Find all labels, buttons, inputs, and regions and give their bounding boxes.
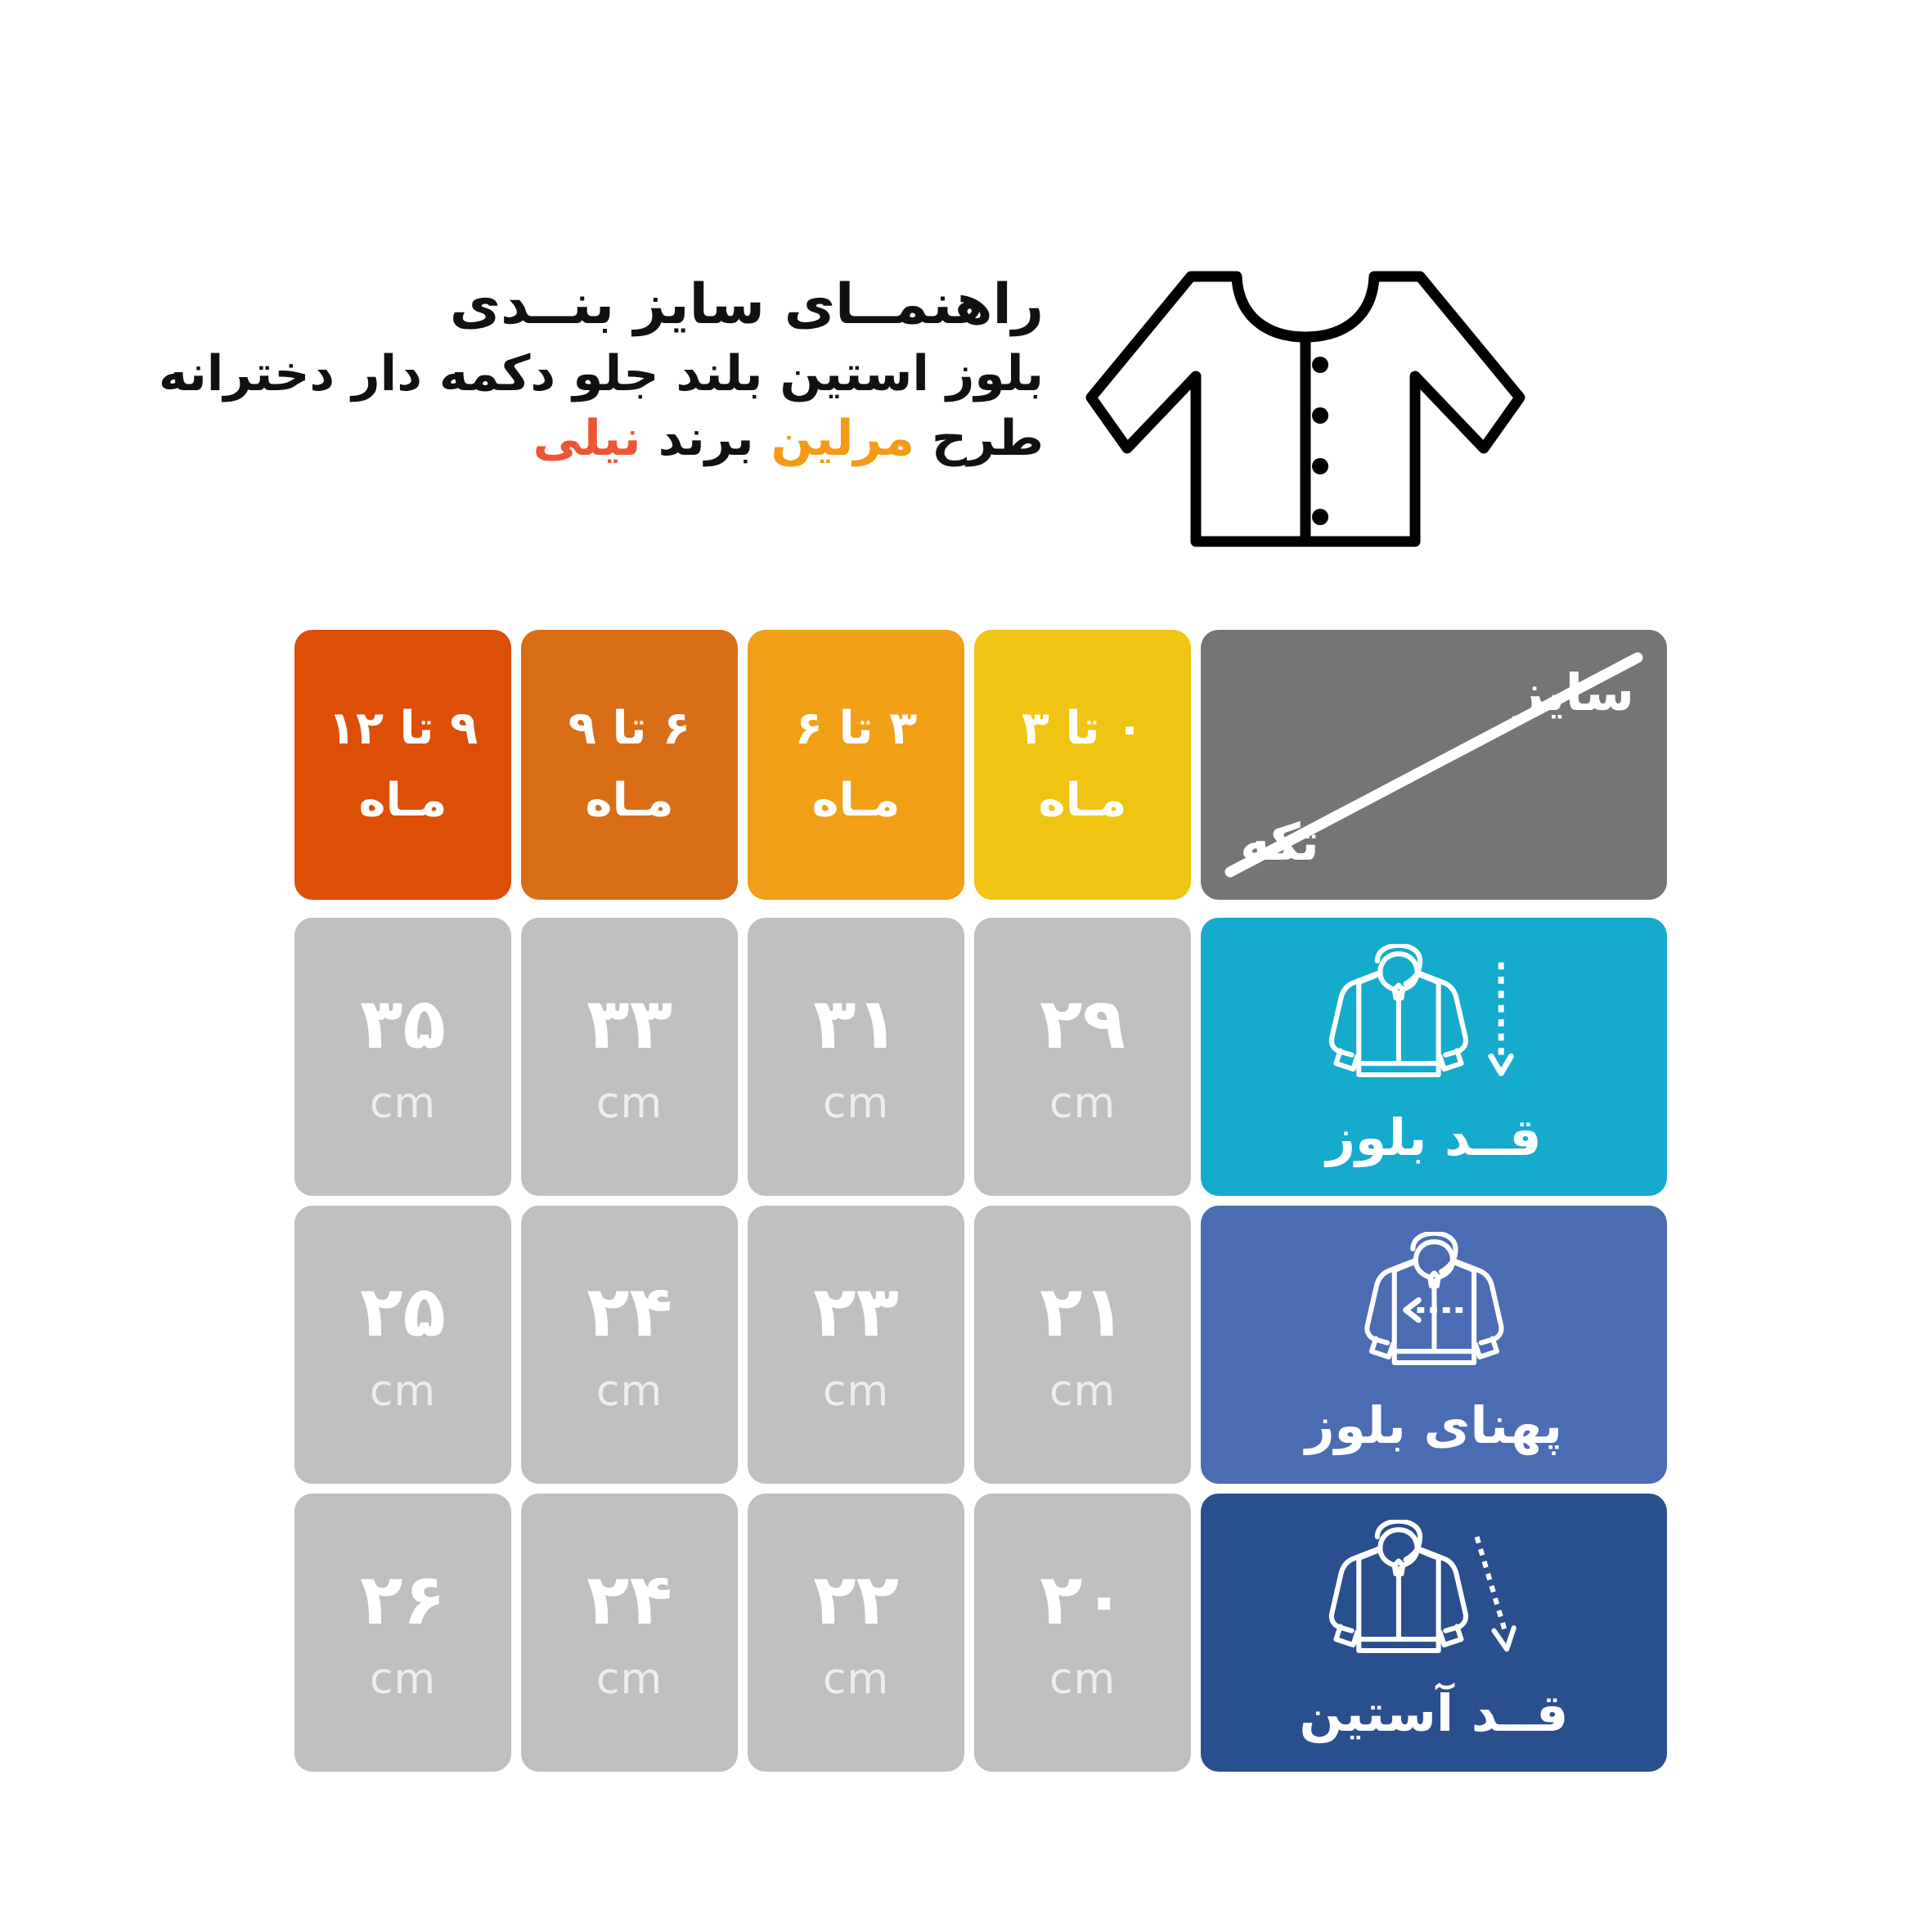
measurement-unit: cm bbox=[370, 1658, 436, 1701]
size-header-9-12-months: ۹ تا ۱۲ مـاه bbox=[294, 630, 511, 900]
measurement-value: ۳۳ bbox=[586, 989, 672, 1059]
table-cell-width-3-6: ۲۳ cm bbox=[748, 1206, 964, 1484]
title-brand-name: نیلی bbox=[532, 410, 640, 467]
row-label-text: پهنای بلوز bbox=[1305, 1395, 1562, 1455]
measurement-value: ۲۱ bbox=[1040, 1277, 1126, 1347]
title-design-name: مرلین bbox=[771, 410, 915, 467]
measurement-unit: cm bbox=[370, 1082, 436, 1125]
measurement-value: ۲۹ bbox=[1040, 989, 1126, 1059]
hoodie-length-icon bbox=[1201, 944, 1667, 1108]
page-title-line-1: راهنمــای سایز بنــدی bbox=[398, 268, 1044, 342]
size-unit-label: مـاه bbox=[1039, 773, 1127, 829]
size-unit-label: مـاه bbox=[359, 773, 447, 829]
table-cell-sleeve-0-3: ۲۰ cm bbox=[974, 1494, 1191, 1772]
measurement-unit: cm bbox=[370, 1370, 436, 1413]
measurement-unit: cm bbox=[823, 1082, 889, 1125]
size-range-label: ۰ تا ۳ bbox=[1022, 701, 1143, 757]
measurement-unit: cm bbox=[1049, 1370, 1116, 1413]
table-corner-header: سایز تکه bbox=[1201, 630, 1667, 900]
size-guide-page: راهنمــای سایز بنــدی بلوز استین بلند جل… bbox=[0, 0, 1932, 1932]
measurement-unit: cm bbox=[1049, 1658, 1116, 1701]
page-title-line-3: طرح مرلین برند نیلی bbox=[398, 407, 1044, 471]
measurement-unit: cm bbox=[823, 1370, 889, 1413]
corner-label-piece: تکه bbox=[1240, 812, 1319, 872]
title-prefix-design: طرح bbox=[914, 410, 1044, 467]
measurement-value: ۳۵ bbox=[360, 989, 446, 1059]
size-header-0-3-months: ۰ تا ۳ مـاه bbox=[974, 630, 1191, 900]
measurement-unit: cm bbox=[1049, 1082, 1116, 1125]
size-range-label: ۳ تا ۶ bbox=[795, 701, 917, 757]
measurement-value: ۲۴ bbox=[586, 1277, 672, 1347]
table-cell-length-0-3: ۲۹ cm bbox=[974, 918, 1191, 1196]
size-unit-label: مـاه bbox=[586, 773, 674, 829]
row-label-blouse-length: قــد بلوز bbox=[1201, 918, 1667, 1196]
row-label-blouse-width: پهنای بلوز bbox=[1201, 1206, 1667, 1484]
table-cell-sleeve-9-12: ۲۶ cm bbox=[294, 1494, 511, 1772]
size-range-label: ۶ تا ۹ bbox=[568, 701, 690, 757]
measurement-value: ۲۰ bbox=[1040, 1565, 1126, 1635]
measurement-value: ۲۲ bbox=[813, 1565, 899, 1635]
hoodie-sleeve-icon bbox=[1201, 1520, 1667, 1683]
title-prefix-brand: برند bbox=[641, 410, 771, 467]
table-cell-length-6-9: ۳۳ cm bbox=[521, 918, 738, 1196]
table-cell-sleeve-3-6: ۲۲ cm bbox=[748, 1494, 964, 1772]
button-front-blouse-icon bbox=[1076, 245, 1534, 573]
hoodie-width-icon bbox=[1201, 1232, 1667, 1395]
size-table: ۹ تا ۱۲ مـاه ۶ تا ۹ مـاه ۳ تا ۶ مـاه ۰ ت… bbox=[294, 630, 1644, 1772]
size-header-3-6-months: ۳ تا ۶ مـاه bbox=[748, 630, 964, 900]
size-header-6-9-months: ۶ تا ۹ مـاه bbox=[521, 630, 738, 900]
measurement-unit: cm bbox=[823, 1658, 889, 1701]
table-cell-width-9-12: ۲۵ cm bbox=[294, 1206, 511, 1484]
size-unit-label: مـاه bbox=[812, 773, 901, 829]
table-cell-length-9-12: ۳۵ cm bbox=[294, 918, 511, 1196]
header: راهنمــای سایز بنــدی بلوز استین بلند جل… bbox=[0, 245, 1932, 589]
measurement-unit: cm bbox=[596, 1082, 663, 1125]
title-block: راهنمــای سایز بنــدی بلوز استین بلند جل… bbox=[398, 245, 1044, 471]
measurement-value: ۲۳ bbox=[813, 1277, 899, 1347]
table-cell-sleeve-6-9: ۲۴ cm bbox=[521, 1494, 738, 1772]
table-cell-length-3-6: ۳۱ cm bbox=[748, 918, 964, 1196]
measurement-unit: cm bbox=[596, 1370, 663, 1413]
page-title-line-2: بلوز استین بلند جلو دکمه دار دخترانه bbox=[398, 342, 1044, 407]
row-label-text: قــد بلوز bbox=[1326, 1108, 1542, 1167]
row-label-sleeve-length: قــد آستین bbox=[1201, 1494, 1667, 1772]
corner-label-size: سایز bbox=[1515, 663, 1634, 722]
measurement-value: ۳۱ bbox=[813, 989, 899, 1059]
size-range-label: ۹ تا ۱۲ bbox=[328, 701, 479, 757]
measurement-value: ۲۶ bbox=[360, 1565, 446, 1635]
table-cell-width-0-3: ۲۱ cm bbox=[974, 1206, 1191, 1484]
measurement-unit: cm bbox=[596, 1658, 663, 1701]
row-label-text: قــد آستین bbox=[1299, 1683, 1568, 1743]
measurement-value: ۲۴ bbox=[586, 1565, 672, 1635]
table-cell-width-6-9: ۲۴ cm bbox=[521, 1206, 738, 1484]
measurement-value: ۲۵ bbox=[360, 1277, 446, 1347]
